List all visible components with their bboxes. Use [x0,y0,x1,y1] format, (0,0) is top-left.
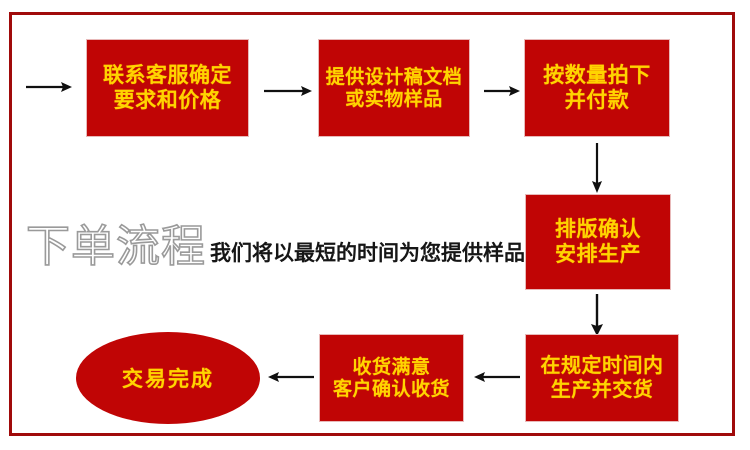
flow-node-transaction-complete[interactable]: 交易完成 [76,332,260,424]
arrow-deliver-to-receive-left-icon [474,368,520,386]
section-heading: 下单流程 我们将以最短的时间为您提供样品 [26,213,525,269]
flow-node-contact-support-line1: 联系客服确定 [103,63,232,88]
arrow-order-to-layout-down-icon [588,143,606,193]
flow-node-receive-and-confirm[interactable]: 收货满意 客户确认收货 [319,334,464,422]
flow-node-order-and-pay-line1: 按数量拍下 [543,63,651,88]
heading-outline-title: 下单流程 [26,225,206,269]
watermark-top [262,0,372,10]
order-process-flowchart: 联系客服确定 要求和价格 提供设计稿文档 或实物样品 按数量拍下 并付款 排版确… [0,0,750,450]
heading-subtitle: 我们将以最短的时间为您提供样品 [210,243,525,269]
flow-node-contact-support-line2: 要求和价格 [114,88,222,113]
arrow-entry-right-icon [26,78,72,96]
arrow-design-to-order-right-icon [484,82,520,100]
flow-node-provide-design[interactable]: 提供设计稿文档 或实物样品 [318,39,470,137]
flow-node-provide-design-line2: 或实物样品 [345,88,443,110]
arrow-contact-to-design-right-icon [264,82,312,100]
flow-node-order-and-pay-line2: 并付款 [565,88,630,113]
flow-node-layout-confirm-production-line1: 排版确认 [555,217,641,242]
flow-node-receive-and-confirm-line2: 客户确认收货 [333,378,450,400]
flow-node-contact-support[interactable]: 联系客服确定 要求和价格 [86,39,249,137]
watermark-bottom [240,427,530,436]
arrow-receive-to-done-left-icon [268,368,314,386]
flow-node-receive-and-confirm-line1: 收货满意 [352,356,430,378]
flow-node-provide-design-line1: 提供设计稿文档 [326,66,463,88]
flow-node-layout-confirm-production[interactable]: 排版确认 安排生产 [525,194,671,290]
flow-node-produce-and-deliver[interactable]: 在规定时间内 生产并交货 [525,334,679,422]
flow-node-produce-and-deliver-line2: 生产并交货 [551,378,654,402]
flow-node-layout-confirm-production-line2: 安排生产 [555,242,641,267]
flow-node-transaction-complete-label: 交易完成 [122,363,214,393]
flow-node-produce-and-deliver-line1: 在规定时间内 [541,354,664,378]
flow-node-order-and-pay[interactable]: 按数量拍下 并付款 [524,39,670,137]
arrow-layout-to-deliver-down-icon [588,294,606,336]
